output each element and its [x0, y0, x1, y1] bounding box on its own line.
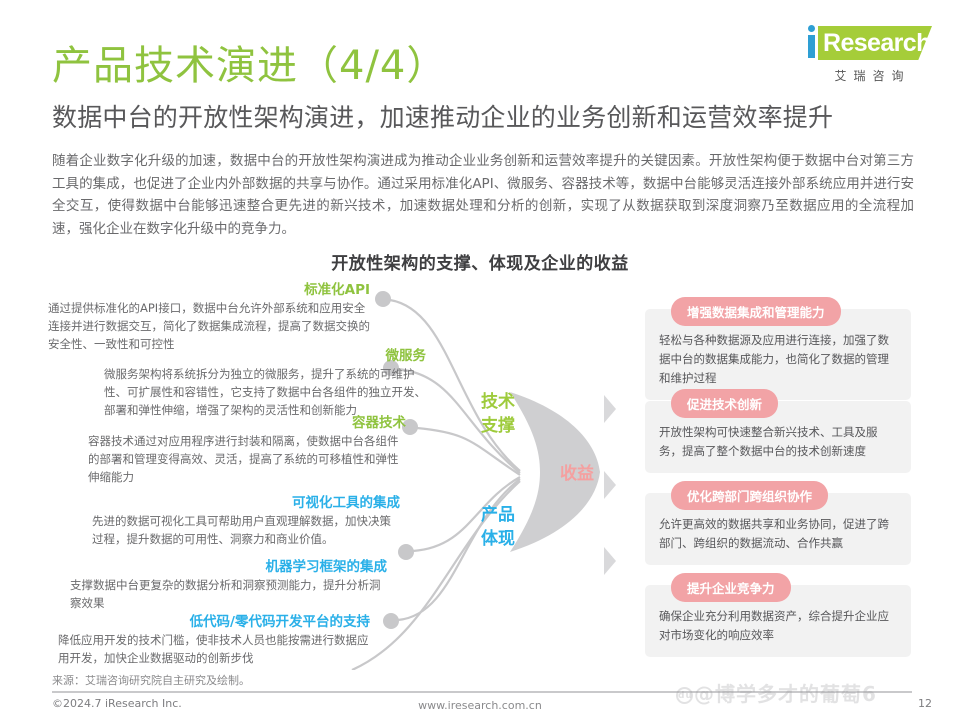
center-label-tech: 技术 支撑: [481, 390, 515, 438]
product-item-ml-framework-head: 机器学习框架的集成: [70, 558, 387, 576]
benefit-card-competitiveness: 提升企业竞争力 确保企业充分利用数据资产，综合提升企业应对市场变化的响应效率: [645, 585, 911, 657]
benefit-card-integration-body: 轻松与各种数据源及应用进行连接，加强了数据中台的数据集成能力，也简化了数据的管理…: [659, 331, 897, 388]
center-label-product-line2: 体现: [481, 527, 515, 551]
support-item-microservice-head: 微服务: [104, 347, 426, 365]
product-item-visualization-head: 可视化工具的集成: [92, 494, 400, 512]
benefit-card-competitiveness-body: 确保企业充分利用数据资产，综合提升企业应对市场变化的响应效率: [659, 607, 897, 645]
support-item-container: 容器技术 容器技术通过对应用程序进行封装和隔离，使数据中台各组件的部署和管理变得…: [88, 414, 406, 486]
support-item-api-head: 标准化API: [48, 281, 370, 299]
support-item-api: 标准化API 通过提供标准化的API接口，数据中台允许外部系统和应用安全连接并进…: [48, 281, 370, 353]
intro-paragraph: 随着企业数字化升级的加速，数据中台的开放性架构演进成为推动企业业务创新和运营效率…: [52, 150, 914, 240]
support-item-microservice-body: 微服务架构将系统拆分为独立的微服务，提升了系统的可维护性、可扩展性和容错性，它支…: [104, 365, 426, 419]
support-item-api-body: 通过提供标准化的API接口，数据中台允许外部系统和应用安全连接并进行数据交互，简…: [48, 299, 370, 353]
product-item-ml-framework-body: 支撑数据中台更复杂的数据分析和洞察预测能力，提升分析洞察效果: [70, 576, 387, 612]
center-label-product: 产品 体现: [481, 503, 515, 551]
baidu-badge-icon: du: [676, 687, 693, 704]
logo-i-stem-icon: [808, 35, 815, 58]
figure-title: 开放性架构的支撑、体现及企业的收益: [0, 249, 960, 274]
watermark: du@博学多才的葡萄6: [676, 678, 877, 707]
logo-mark: Research: [804, 22, 932, 64]
benefit-card-innovation-body: 开放性架构可快速整合新兴技术、工具及服务，提高了整个数据中台的技术创新速度: [659, 423, 897, 461]
benefit-card-integration-tag: 增强数据集成和管理能力: [671, 297, 841, 326]
product-item-ml-framework: 机器学习框架的集成 支撑数据中台更复杂的数据分析和洞察预测能力，提升分析洞察效果: [70, 558, 387, 612]
center-label-tech-line1: 技术: [481, 390, 515, 414]
figure-canvas: 技术 支撑 产品 体现 收益 标准化API 通过提供标准化的API接口，数据中台…: [0, 275, 960, 670]
logo-chinese-name: 艾瑞咨询: [804, 67, 934, 84]
page-subtitle: 数据中台的开放性架构演进，加速推动企业的业务创新和运营效率提升: [52, 98, 833, 134]
center-label-tech-line2: 支撑: [481, 414, 515, 438]
support-item-container-body: 容器技术通过对应用程序进行封装和隔离，使数据中台各组件的部署和管理变得高效、灵活…: [88, 432, 406, 486]
benefit-card-innovation: 促进技术创新 开放性架构可快速整合新兴技术、工具及服务，提高了整个数据中台的技术…: [645, 401, 911, 473]
card-pointer-icons: [604, 395, 616, 575]
product-item-visualization-body: 先进的数据可视化工具可帮助用户直观理解数据，加快决策过程，提升数据的可用性、洞察…: [92, 512, 400, 548]
support-item-container-head: 容器技术: [88, 414, 406, 432]
logo-wordmark: Research: [823, 28, 931, 58]
center-label-product-line1: 产品: [481, 503, 515, 527]
center-label-gain: 收益: [560, 462, 594, 486]
product-item-lowcode-head: 低代码/零代码开发平台的支持: [58, 613, 370, 631]
product-item-lowcode-body: 降低应用开发的技术门槛，使非技术人员也能按需进行数据应用开发，加快企业数据驱动的…: [58, 631, 370, 667]
product-item-visualization: 可视化工具的集成 先进的数据可视化工具可帮助用户直观理解数据，加快决策过程，提升…: [92, 494, 400, 548]
benefit-card-collaboration-tag: 优化跨部门跨组织协作: [671, 481, 828, 510]
benefit-card-integration: 增强数据集成和管理能力 轻松与各种数据源及应用进行连接，加强了数据中台的数据集成…: [645, 309, 911, 400]
source-note: 来源：艾瑞咨询研究院自主研究及绘制。: [52, 672, 250, 688]
logo-i-dot-icon: [808, 25, 815, 32]
benefit-card-collaboration-body: 允许更高效的数据共享和业务协同，促进了跨部门、跨组织的数据流动、合作共赢: [659, 515, 897, 553]
benefit-card-collaboration: 优化跨部门跨组织协作 允许更高效的数据共享和业务协同，促进了跨部门、跨组织的数据…: [645, 493, 911, 565]
support-item-microservice: 微服务 微服务架构将系统拆分为独立的微服务，提升了系统的可维护性、可扩展性和容错…: [104, 347, 426, 419]
page-title: 产品技术演进（4/4）: [52, 33, 447, 91]
benefit-card-innovation-tag: 促进技术创新: [671, 389, 778, 418]
slide-page: Research 艾瑞咨询 产品技术演进（4/4） 数据中台的开放性架构演进，加…: [0, 0, 960, 720]
iresearch-logo: Research 艾瑞咨询: [804, 22, 934, 84]
benefit-card-competitiveness-tag: 提升企业竞争力: [671, 573, 791, 602]
product-item-lowcode: 低代码/零代码开发平台的支持 降低应用开发的技术门槛，使非技术人员也能按需进行数…: [58, 613, 370, 667]
page-number: 12: [918, 697, 932, 710]
watermark-text: @博学多才的葡萄6: [694, 682, 877, 706]
